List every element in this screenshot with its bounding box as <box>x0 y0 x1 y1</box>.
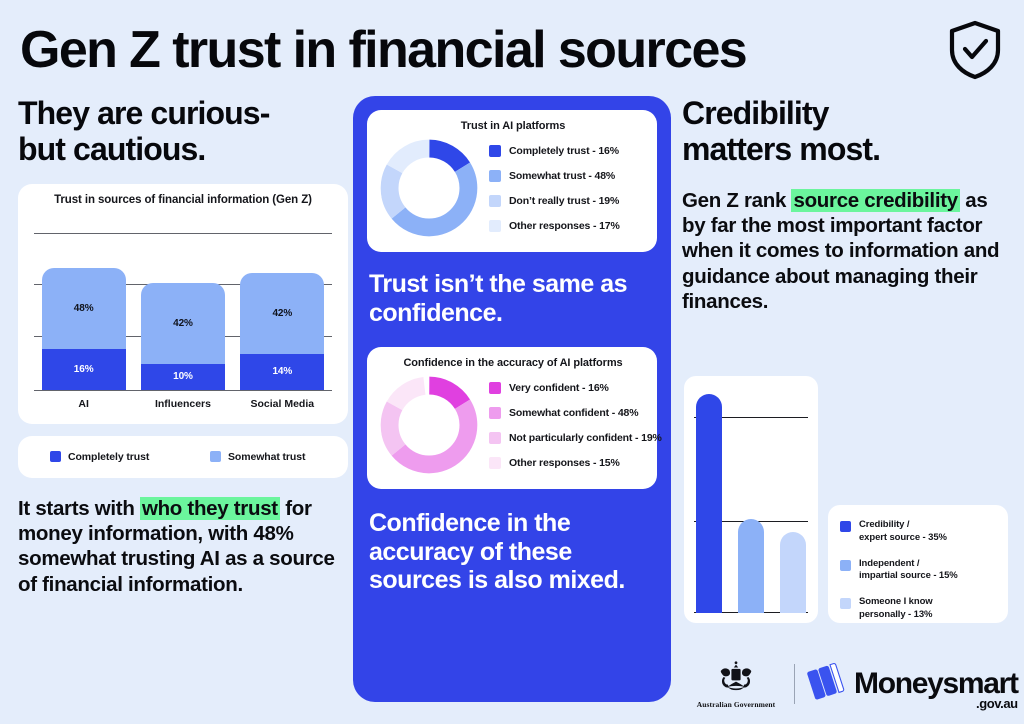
chart-title: Trust in AI platforms <box>377 120 649 132</box>
infographic-page: Gen Z trust in financial sources They ar… <box>0 0 1024 724</box>
bar-value-label: 14% <box>272 366 292 377</box>
trust-sources-bar-chart: Trust in sources of financial informatio… <box>18 184 348 424</box>
legend-label: Other responses - 15% <box>509 457 620 469</box>
legend-item: Very confident - 16% <box>489 382 662 394</box>
legend-swatch-icon <box>489 195 501 207</box>
bar-plot-area <box>694 384 808 613</box>
australian-government-logo: Australian Government <box>690 660 782 709</box>
donut-confidence-ai <box>377 373 481 477</box>
legend-label-line1: Credibility / <box>859 519 909 530</box>
legend-label: Someone I know personally - 13% <box>859 596 933 622</box>
left-headline-line2: but cautious. <box>18 132 348 168</box>
page-title: Gen Z trust in financial sources <box>20 24 746 76</box>
left-headline-line1: They are curious- <box>18 96 348 132</box>
legend-swatch-icon <box>489 382 501 394</box>
moneysmart-logo[interactable]: Moneysmart .gov.au <box>807 661 1018 708</box>
legend-swatch-icon <box>489 220 501 232</box>
bar-group: 48% 16% 42% 10% <box>34 212 332 390</box>
middle-headline-1: Trust isn’t the same as confidence. <box>369 270 657 327</box>
legend-item: Not particularly confident - 19% <box>489 432 662 444</box>
x-tick-labels: AI Influencers Social Media <box>34 398 332 410</box>
credibility-factors-bar-chart <box>684 376 818 623</box>
bar-someone-i-know-personally <box>780 532 806 613</box>
donut-legend: Completely trust - 16% Somewhat trust - … <box>487 145 620 232</box>
right-headline-line2: matters most. <box>682 132 1012 168</box>
legend-swatch-icon <box>840 521 851 532</box>
bar-value-label: 42% <box>173 318 193 329</box>
legend-label: Credibility / expert source - 35% <box>859 519 947 545</box>
left-column: They are curious- but cautious. Trust in… <box>18 96 348 597</box>
donut-trust-ai <box>377 136 481 240</box>
middle-headline-2: Confidence in the accuracy of these sour… <box>369 509 657 595</box>
bar-value-label: 16% <box>74 364 94 375</box>
legend-swatch-icon <box>489 432 501 444</box>
right-headline: Credibility matters most. <box>682 96 1012 168</box>
legend-swatch-icon <box>840 598 851 609</box>
left-headline: They are curious- but cautious. <box>18 96 348 168</box>
legend-label: Other responses - 17% <box>509 220 620 232</box>
x-tick-label: Social Media <box>240 398 324 410</box>
right-copy-highlight: source credibility <box>791 189 959 212</box>
legend-item: Somewhat confident - 48% <box>489 407 662 419</box>
legend-label-line2: personally - 13% <box>859 609 932 620</box>
legend-label: Don’t really trust - 19% <box>509 195 619 207</box>
legend-swatch-icon <box>50 451 61 462</box>
legend-label: Somewhat trust <box>228 451 305 463</box>
legend-swatch-icon <box>210 451 221 462</box>
bar-social-media: 42% 14% <box>240 212 324 390</box>
donut-legend: Very confident - 16% Somewhat confident … <box>487 382 662 469</box>
legend-label-line2: expert source - 35% <box>859 532 947 543</box>
legend-item: Somewhat trust - 48% <box>489 170 620 182</box>
legend-label: Not particularly confident - 19% <box>509 432 662 444</box>
legend-item-completely-trust: Completely trust <box>50 451 200 463</box>
credibility-legend: Credibility / expert source - 35% Indepe… <box>828 505 1008 623</box>
middle-panel: Trust in AI platforms Completely trust -… <box>353 96 671 702</box>
moneysmart-tld: .gov.au <box>976 696 1018 711</box>
legend-swatch-icon <box>489 170 501 182</box>
legend-label-line2: impartial source - 15% <box>859 570 958 581</box>
legend-label: Somewhat trust - 48% <box>509 170 615 182</box>
legend-swatch-icon <box>489 407 501 419</box>
x-axis <box>34 390 332 391</box>
chart-title: Trust in sources of financial informatio… <box>30 194 336 206</box>
legend-label: Somewhat confident - 48% <box>509 407 638 419</box>
x-tick-label: AI <box>42 398 126 410</box>
left-body-copy: It starts with who they trust for money … <box>18 496 348 598</box>
bar-value-label: 48% <box>74 303 94 314</box>
legend-item-somewhat-trust: Somewhat trust <box>210 451 305 463</box>
legend-swatch-icon <box>489 145 501 157</box>
bar-influencers: 42% 10% <box>141 212 225 390</box>
legend-item: Other responses - 15% <box>489 457 662 469</box>
legend-item: Don’t really trust - 19% <box>489 195 620 207</box>
confidence-ai-donut-chart: Confidence in the accuracy of AI platfor… <box>367 347 657 489</box>
legend-label: Independent / impartial source - 15% <box>859 558 958 584</box>
right-column: Credibility matters most. Gen Z rank sou… <box>682 96 1012 315</box>
footer-divider <box>794 664 795 704</box>
footer: Australian Government Moneysmart .gov.au <box>690 655 1020 713</box>
shield-check-icon <box>948 20 1002 80</box>
bar-plot-area: 48% 16% 42% 10% <box>34 212 332 390</box>
legend-item: Completely trust - 16% <box>489 145 620 157</box>
legend-swatch-icon <box>840 560 851 571</box>
legend-label-line1: Someone I know <box>859 596 933 607</box>
left-copy-before: It starts with <box>18 497 140 520</box>
legend-label: Completely trust - 16% <box>509 145 619 157</box>
bar-value-label: 42% <box>272 308 292 319</box>
legend-swatch-icon <box>489 457 501 469</box>
right-body-copy: Gen Z rank source credibility as by far … <box>682 188 1012 315</box>
australian-coat-of-arms-icon <box>706 660 766 699</box>
australian-government-label: Australian Government <box>697 700 776 709</box>
moneysmart-logo-icon <box>807 661 847 708</box>
bar-ai: 48% 16% <box>42 212 126 390</box>
x-tick-label: Influencers <box>141 398 225 410</box>
bar-value-label: 10% <box>173 371 193 382</box>
bar-independent-impartial-source <box>738 519 764 613</box>
trust-ai-donut-chart: Trust in AI platforms Completely trust -… <box>367 110 657 252</box>
legend-label: Very confident - 16% <box>509 382 609 394</box>
right-copy-before: Gen Z rank <box>682 189 791 212</box>
legend-item-credibility: Credibility / expert source - 35% <box>840 519 996 545</box>
left-copy-highlight: who they trust <box>140 497 280 520</box>
chart-title: Confidence in the accuracy of AI platfor… <box>377 357 649 369</box>
legend-item-someone-i-know: Someone I know personally - 13% <box>840 596 996 622</box>
right-headline-line1: Credibility <box>682 96 1012 132</box>
header: Gen Z trust in financial sources <box>20 12 1010 87</box>
bar-chart-legend: Completely trust Somewhat trust <box>18 436 348 478</box>
legend-item-independent: Independent / impartial source - 15% <box>840 558 996 584</box>
legend-label: Completely trust <box>68 451 149 463</box>
legend-label-line1: Independent / <box>859 558 919 569</box>
legend-item: Other responses - 17% <box>489 220 620 232</box>
bar-credibility-expert-source <box>696 394 722 613</box>
